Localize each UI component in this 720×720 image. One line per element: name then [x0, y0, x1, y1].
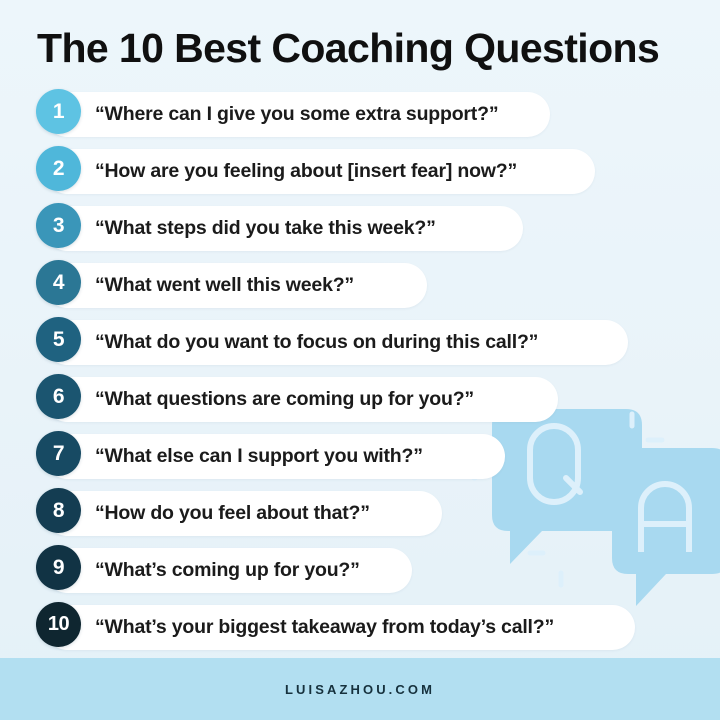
list-item: 7 “What else can I support you with?” — [0, 430, 720, 487]
question-text: “How are you feeling about [insert fear]… — [95, 145, 517, 198]
list-item: 3 “What steps did you take this week?” — [0, 202, 720, 259]
question-number-badge: 3 — [36, 203, 81, 248]
questions-list: 1 “Where can I give you some extra suppo… — [0, 88, 720, 658]
question-text: “What questions are coming up for you?” — [95, 373, 474, 426]
list-item: 10 “What’s your biggest takeaway from to… — [0, 601, 720, 658]
question-number-badge: 7 — [36, 431, 81, 476]
question-text: “What went well this week?” — [95, 259, 354, 312]
question-text: “What do you want to focus on during thi… — [95, 316, 538, 369]
question-number-badge: 6 — [36, 374, 81, 419]
page-title: The 10 Best Coaching Questions — [37, 24, 659, 72]
list-item: 2 “How are you feeling about [insert fea… — [0, 145, 720, 202]
infographic-poster: The 10 Best Coaching Questions 1 “Where … — [0, 0, 720, 720]
question-number-badge: 1 — [36, 89, 81, 134]
site-url: LUISAZHOU.COM — [285, 682, 435, 697]
question-text: “What steps did you take this week?” — [95, 202, 436, 255]
list-item: 4 “What went well this week?” — [0, 259, 720, 316]
question-text: “Where can I give you some extra support… — [95, 88, 498, 141]
question-text: “What’s your biggest takeaway from today… — [95, 601, 554, 654]
question-number-badge: 10 — [36, 602, 81, 647]
question-number-badge: 5 — [36, 317, 81, 362]
list-item: 6 “What questions are coming up for you?… — [0, 373, 720, 430]
question-number-badge: 4 — [36, 260, 81, 305]
list-item: 9 “What’s coming up for you?” — [0, 544, 720, 601]
list-item: 1 “Where can I give you some extra suppo… — [0, 88, 720, 145]
question-number-badge: 2 — [36, 146, 81, 191]
list-item: 5 “What do you want to focus on during t… — [0, 316, 720, 373]
list-item: 8 “How do you feel about that?” — [0, 487, 720, 544]
question-number-badge: 9 — [36, 545, 81, 590]
question-number-badge: 8 — [36, 488, 81, 533]
question-text: “What else can I support you with?” — [95, 430, 423, 483]
question-text: “What’s coming up for you?” — [95, 544, 360, 597]
question-text: “How do you feel about that?” — [95, 487, 370, 540]
footer-band: LUISAZHOU.COM — [0, 658, 720, 720]
